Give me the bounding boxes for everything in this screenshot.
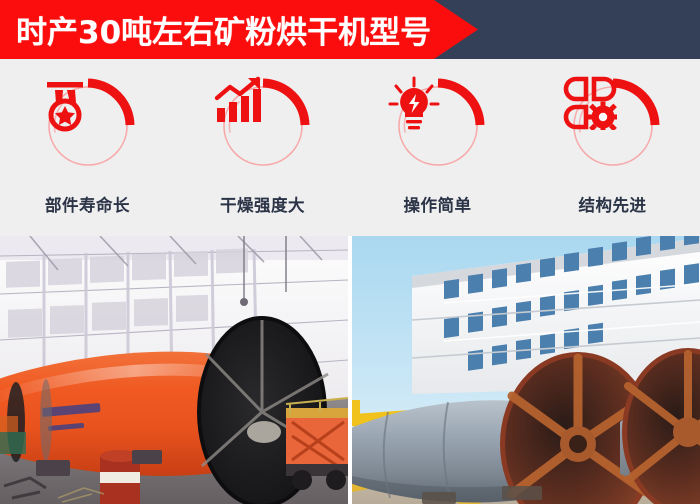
feature-label: 结构先进: [579, 192, 647, 216]
orange-rotary-dryer-photo: [0, 236, 348, 504]
icon-circle: [38, 76, 138, 176]
feature-label: 部件寿命长: [45, 192, 130, 216]
icon-circle: [563, 76, 663, 176]
feature-list: 部件寿命长: [0, 62, 700, 234]
feature-label: 干燥强度大: [220, 192, 305, 216]
icon-circle: [213, 76, 313, 176]
icon-circle: [388, 76, 488, 176]
feature-item-easy-operation[interactable]: 操作简单: [350, 62, 525, 234]
page-title: 时产30吨左右矿粉烘干机型号: [16, 0, 431, 59]
lightbulb-bolt-icon: [388, 76, 488, 176]
bar-chart-arrow-icon: [213, 76, 313, 176]
gear-petals-icon: [563, 76, 663, 176]
feature-item-advanced-structure[interactable]: 结构先进: [525, 62, 700, 234]
feature-label: 操作简单: [404, 192, 472, 216]
medal-star-icon: [38, 76, 138, 176]
feature-item-drying-intensity[interactable]: 干燥强度大: [175, 62, 350, 234]
title-banner: 时产30吨左右矿粉烘干机型号: [0, 0, 700, 59]
gray-rotary-dryer-photo: [352, 236, 700, 504]
feature-item-part-life[interactable]: 部件寿命长: [0, 62, 175, 234]
photo-strip: Φ2.6x24 筒体容积: 127.4m³ 生产能力: 27.2-34.0t/h…: [0, 236, 700, 504]
promo-banner-page: 时产30吨左右矿粉烘干机型号: [0, 0, 700, 504]
